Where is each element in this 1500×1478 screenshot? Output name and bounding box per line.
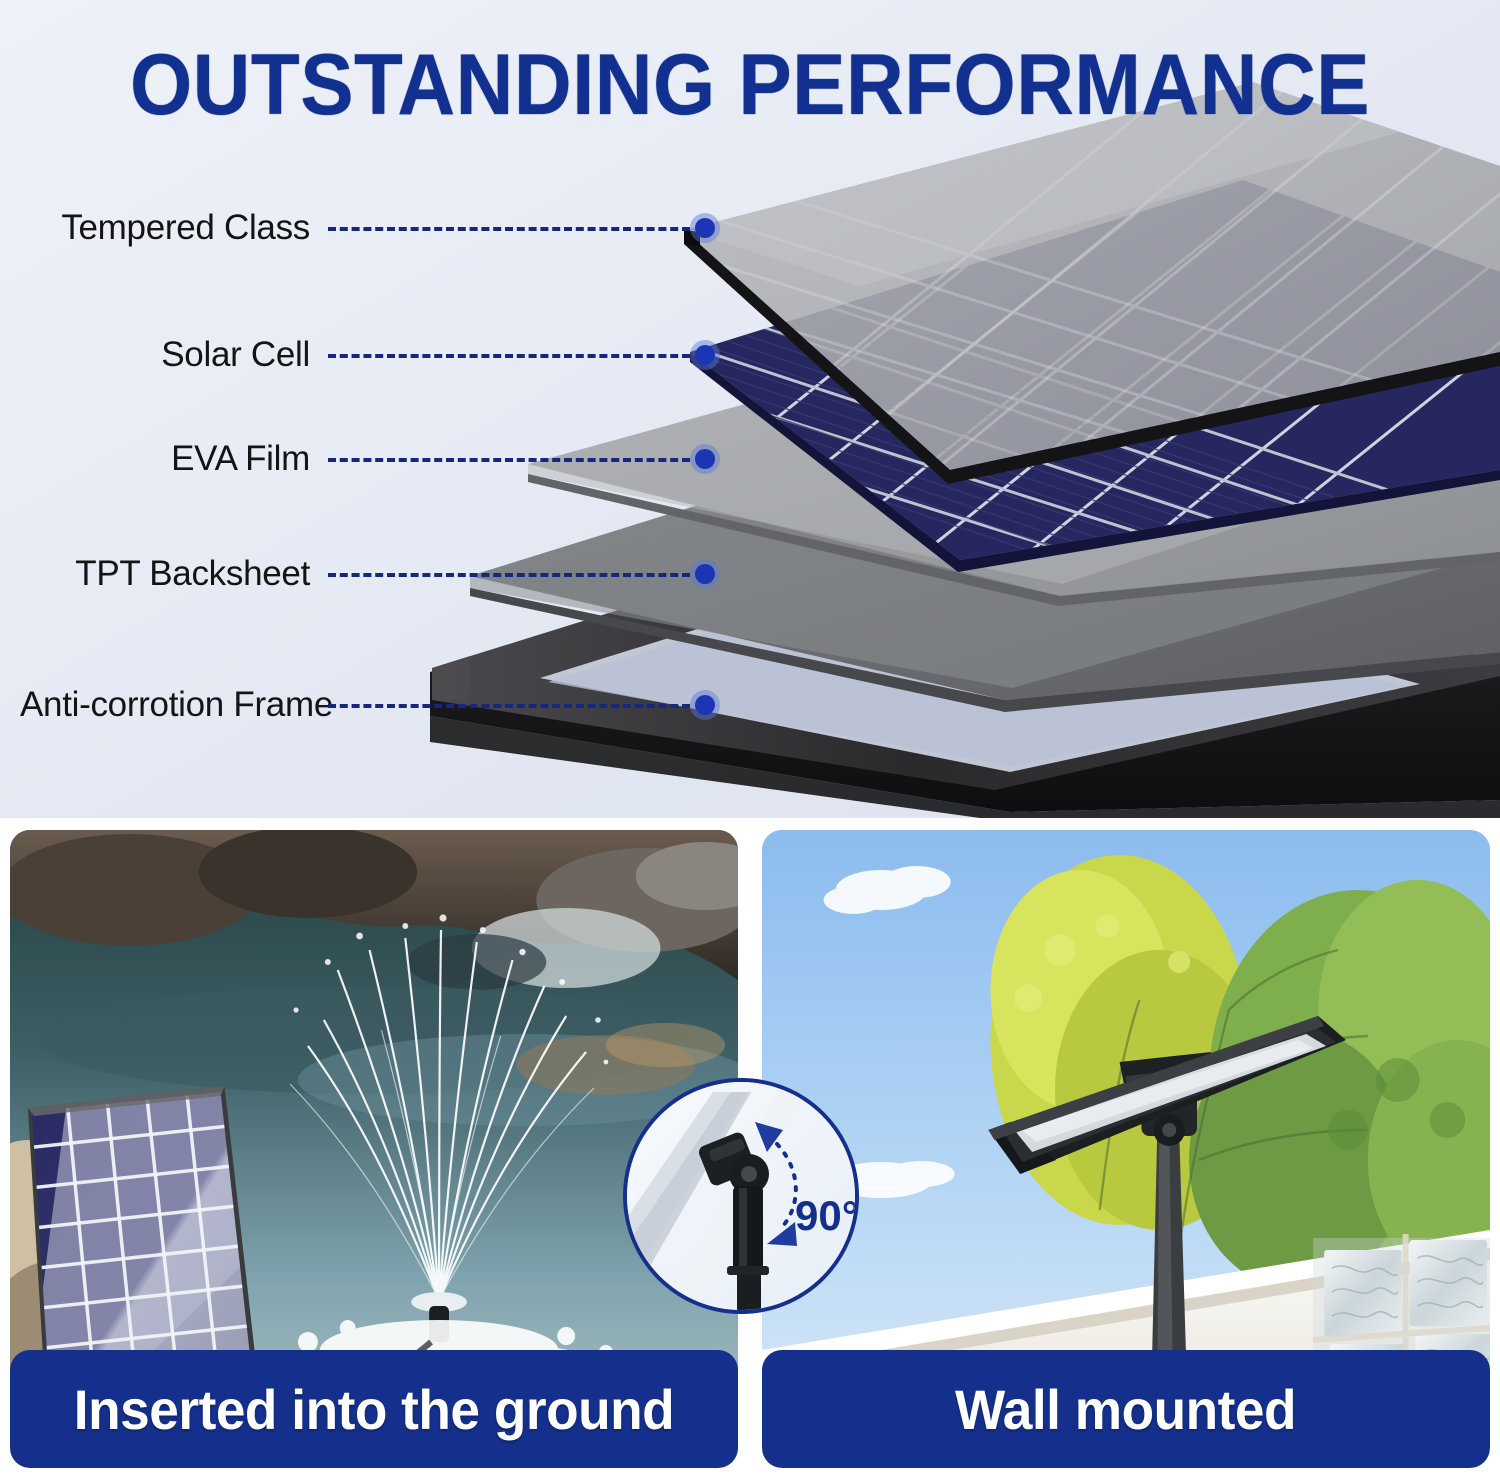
callout-label-anti-corrosion-frame: Anti-corrotion Frame <box>20 685 310 725</box>
usage-scene-inserted-into-the-ground: Inserted into the ground <box>10 830 738 1468</box>
callout-tempered-glass: Tempered Class <box>20 205 720 251</box>
callout-leader-line <box>328 704 690 708</box>
callout-dot <box>690 444 720 474</box>
caption-text: Wall mounted <box>955 1377 1296 1442</box>
callout-leader-line <box>328 354 690 358</box>
callout-dot <box>690 559 720 589</box>
callout-dot <box>690 690 720 720</box>
caption-text: Inserted into the ground <box>74 1377 674 1442</box>
page-title: OUTSTANDING PERFORMANCE <box>53 36 1448 135</box>
callout-solar-cell: Solar Cell <box>20 332 720 378</box>
angle-label-text: 90° <box>795 1192 855 1239</box>
callout-leader-line <box>328 458 690 462</box>
callout-dot <box>690 213 720 243</box>
callout-leader-line <box>328 573 690 577</box>
callout-tpt-backsheet: TPT Backsheet <box>20 551 720 597</box>
callout-label-tpt-backsheet: TPT Backsheet <box>20 554 310 594</box>
callout-anti-corrosion-frame: Anti-corrotion Frame <box>20 682 720 728</box>
callout-label-tempered-glass: Tempered Class <box>20 208 310 248</box>
callout-eva-film: EVA Film <box>20 436 720 482</box>
angle-callout-circle: 90° <box>623 1078 859 1314</box>
usage-scene-wall-mounted: Wall mounted <box>762 830 1490 1468</box>
caption-bar-wall-mounted: Wall mounted <box>762 1350 1490 1468</box>
callout-label-eva-film: EVA Film <box>20 439 310 479</box>
caption-bar-inserted-into-the-ground: Inserted into the ground <box>10 1350 738 1468</box>
exploded-diagram-panel: OUTSTANDING PERFORMANCE <box>0 0 1500 818</box>
callout-leader-line <box>328 227 690 231</box>
callout-label-solar-cell: Solar Cell <box>20 335 310 375</box>
callout-dot <box>690 340 720 370</box>
